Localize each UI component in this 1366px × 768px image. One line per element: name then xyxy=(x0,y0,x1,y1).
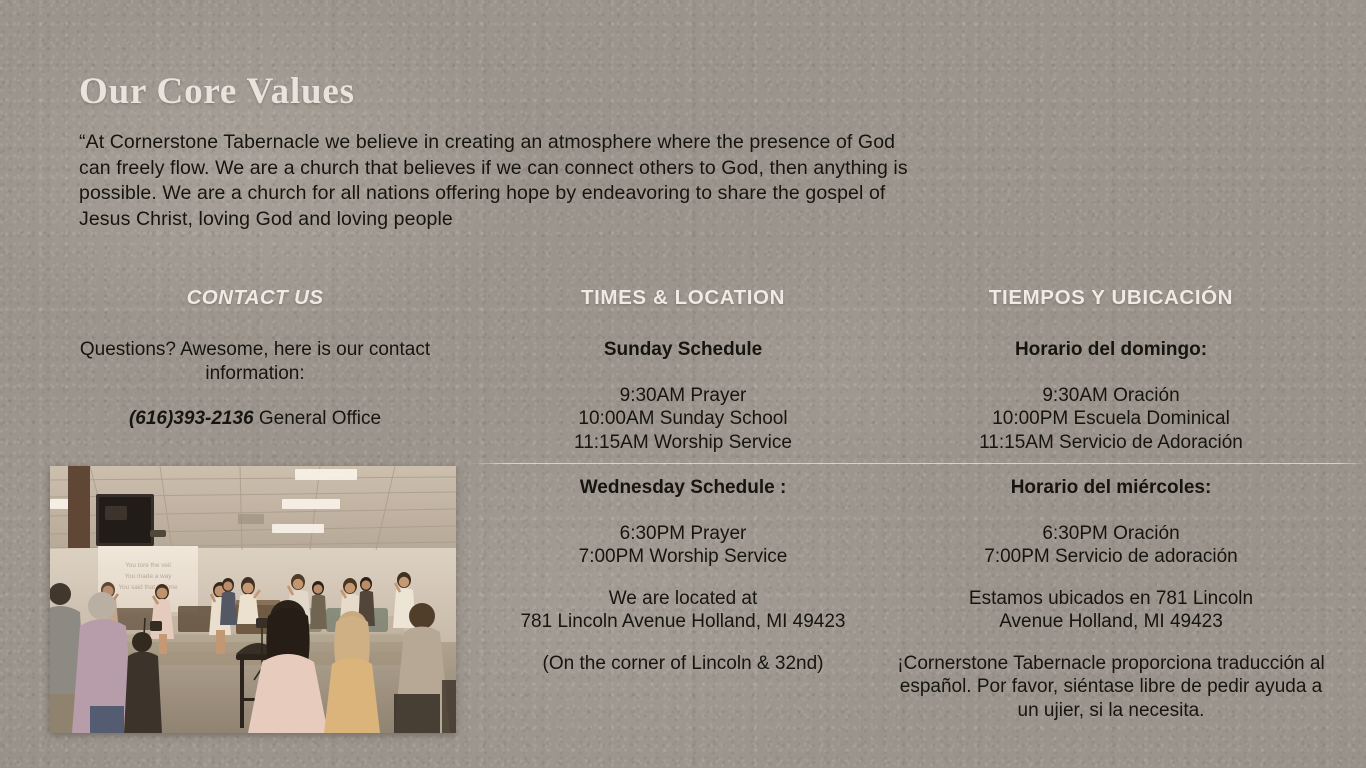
tiempos-column: TIEMPOS Y UBICACIÓN Horario del domingo:… xyxy=(896,286,1326,722)
sunday-service-item: 9:30AM Prayer xyxy=(470,384,896,408)
wednesday-schedule-title: Wednesday Schedule : xyxy=(470,476,896,500)
domingo-service-item: 11:15AM Servicio de Adoración xyxy=(896,431,1326,455)
sunday-service-item: 10:00AM Sunday School xyxy=(470,407,896,431)
miercoles-service-item: 7:00PM Servicio de adoración xyxy=(896,545,1326,569)
domingo-schedule-title: Horario del domingo: xyxy=(896,338,1326,362)
wednesday-service-item: 7:00PM Worship Service xyxy=(470,545,896,569)
tiempos-heading: TIEMPOS Y UBICACIÓN xyxy=(896,286,1326,310)
miercoles-service-item: 6:30PM Oración xyxy=(896,522,1326,546)
sunday-service-item: 11:15AM Worship Service xyxy=(470,431,896,455)
slide-canvas: Our Core Values “At Cornerstone Tabernac… xyxy=(0,0,1366,768)
wednesday-service-item: 6:30PM Prayer xyxy=(470,522,896,546)
contact-heading: CONTACT US xyxy=(40,286,470,310)
times-column: TIMES & LOCATION Sunday Schedule 9:30AM … xyxy=(470,286,896,675)
ubicacion-line: Avenue Holland, MI 49423 xyxy=(896,610,1326,634)
core-values-quote: “At Cornerstone Tabernacle we believe in… xyxy=(79,130,924,232)
times-heading: TIMES & LOCATION xyxy=(470,286,896,310)
miercoles-schedule-title: Horario del miércoles: xyxy=(896,476,1326,500)
translation-note: ¡Cornerstone Tabernacle proporciona trad… xyxy=(896,652,1326,723)
page-title: Our Core Values xyxy=(79,70,355,113)
contact-column: CONTACT US Questions? Awesome, here is o… xyxy=(40,286,470,431)
sunday-schedule-title: Sunday Schedule xyxy=(470,338,896,362)
domingo-service-item: 9:30AM Oración xyxy=(896,384,1326,408)
location-line: We are located at xyxy=(470,587,896,611)
contact-intro: Questions? Awesome, here is our contact … xyxy=(40,338,470,385)
contact-phone-number[interactable]: (616)393-2136 xyxy=(129,408,254,429)
worship-service-photo: You tore the veil You made a way You sai… xyxy=(50,466,456,733)
location-line: 781 Lincoln Avenue Holland, MI 49423 xyxy=(470,610,896,634)
corner-note: (On the corner of Lincoln & 32nd) xyxy=(470,652,896,676)
ubicacion-line: Estamos ubicados en 781 Lincoln xyxy=(896,587,1326,611)
domingo-service-item: 10:00PM Escuela Dominical xyxy=(896,407,1326,431)
contact-phone-label: General Office xyxy=(254,408,381,429)
contact-phone-line: (616)393-2136 General Office xyxy=(40,407,470,431)
photo-illustration: You tore the veil You made a way You sai… xyxy=(50,466,456,733)
